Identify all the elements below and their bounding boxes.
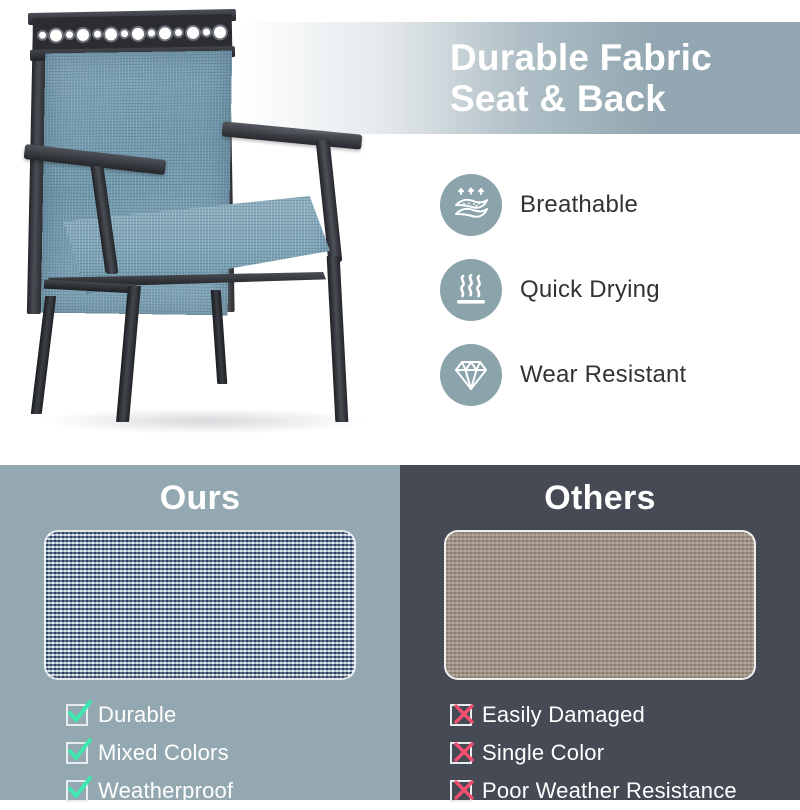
list-item: Poor Weather Resistance <box>450 772 800 810</box>
product-shadow <box>40 408 370 434</box>
feature-label-wear-resistant: Wear Resistant <box>520 361 686 389</box>
hero-title-line-1: Durable Fabric <box>450 37 800 78</box>
drawback-list-others: Easily Damaged Single Color Poor Weather… <box>400 696 800 810</box>
fabric-swatch-others <box>444 530 756 680</box>
feature-list: Breathable Quick Drying <box>440 162 800 417</box>
check-icon <box>66 780 88 802</box>
list-item: Easily Damaged <box>450 696 800 734</box>
list-item-label: Easily Damaged <box>482 702 645 728</box>
comparison-panel-ours: Ours Durable Mixed Colors <box>0 465 400 800</box>
feature-label-breathable: Breathable <box>520 191 638 219</box>
fabric-swatch-ours <box>44 530 356 680</box>
diamond-icon <box>440 344 502 406</box>
list-item: Weatherproof <box>66 772 400 810</box>
cross-icon <box>450 780 472 802</box>
quick-drying-icon <box>440 259 502 321</box>
hero-title-line-2: Seat & Back <box>450 78 800 119</box>
comparison-section: Ours Durable Mixed Colors <box>0 465 800 800</box>
hero-title-banner: Durable Fabric Seat & Back <box>240 22 800 134</box>
hero-section: Durable Fabric Seat & Back <box>0 0 800 465</box>
chair-leg-front-right <box>327 256 349 422</box>
list-item: Durable <box>66 696 400 734</box>
feature-label-quick-drying: Quick Drying <box>520 276 660 304</box>
list-item-label: Weatherproof <box>98 778 233 804</box>
list-item-label: Poor Weather Resistance <box>482 778 737 804</box>
panel-title-ours: Ours <box>0 479 400 518</box>
list-item-label: Mixed Colors <box>98 740 229 766</box>
panel-title-others: Others <box>400 479 800 518</box>
check-icon <box>66 742 88 764</box>
benefit-list-ours: Durable Mixed Colors Weatherproof <box>0 696 400 810</box>
list-item-label: Single Color <box>482 740 604 766</box>
feature-item-quick-drying: Quick Drying <box>440 247 800 332</box>
check-icon <box>66 704 88 726</box>
list-item-label: Durable <box>98 702 176 728</box>
list-item: Single Color <box>450 734 800 772</box>
comparison-panel-others: Others Easily Damaged Single Color <box>400 465 800 800</box>
breathable-fabric-icon <box>440 174 502 236</box>
feature-item-wear-resistant: Wear Resistant <box>440 332 800 417</box>
cross-icon <box>450 704 472 726</box>
feature-item-breathable: Breathable <box>440 162 800 247</box>
cross-icon <box>450 742 472 764</box>
list-item: Mixed Colors <box>66 734 400 772</box>
